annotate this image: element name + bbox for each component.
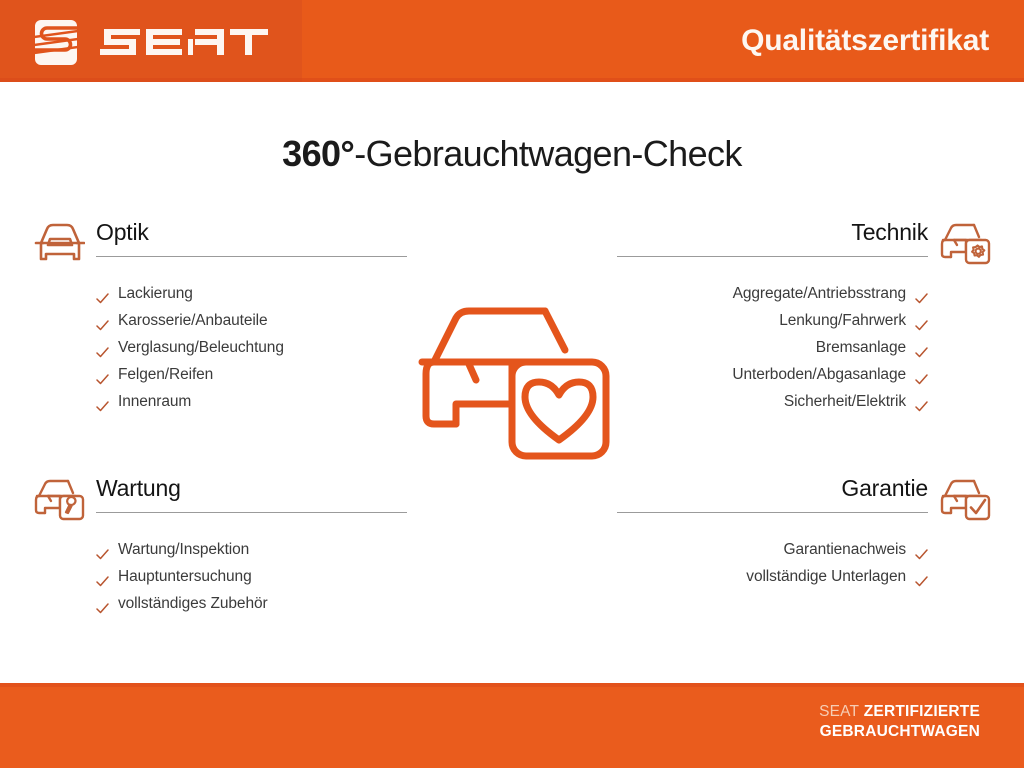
section-optik-list: Lackierung Karosserie/Anbauteile Verglas… [33,280,408,415]
section-optik-divider [96,256,407,257]
list-item-label: vollständiges Zubehör [118,590,268,617]
list-item: Lackierung [96,280,408,307]
list-item: Aggregate/Antriebsstrang [616,280,928,307]
list-item: Hauptuntersuchung [96,563,408,590]
list-item-label: vollständige Unterlagen [746,563,906,590]
section-optik-header: Optik [33,219,408,271]
check-icon [96,341,109,354]
car-with-gear-badge-icon [939,221,991,267]
list-item-label: Innenraum [118,388,191,415]
check-icon [915,341,928,354]
check-icon [915,368,928,381]
check-icon [96,395,109,408]
list-item-label: Aggregate/Antriebsstrang [733,280,906,307]
footer-top-edge [0,683,1024,687]
list-item-label: Karosserie/Anbauteile [118,307,268,334]
car-with-wrench-badge-icon [33,477,85,523]
section-garantie: Garantie Garantienachweis vollständige U… [616,475,991,590]
list-item-label: Lenkung/Fahrwerk [779,307,906,334]
check-icon [96,287,109,300]
page-title-degrees: 360° [282,133,354,174]
list-item: Garantienachweis [616,536,928,563]
header-bottom-edge [0,78,1024,82]
section-wartung-title: Wartung [96,475,181,502]
seat-wordmark [100,25,268,59]
section-garantie-title: Garantie [841,475,928,502]
car-with-heart-badge-icon [412,298,616,476]
check-icon [915,543,928,556]
section-garantie-header: Garantie [616,475,991,527]
list-item: Lenkung/Fahrwerk [616,307,928,334]
page-title: 360°-Gebrauchtwagen-Check [0,133,1024,175]
list-item: vollständige Unterlagen [616,563,928,590]
footer-brand-line2: GEBRAUCHTWAGEN [819,722,980,742]
list-item-label: Verglasung/Beleuchtung [118,334,284,361]
header-title: Qualitätszertifikat [741,0,989,82]
section-technik: Technik Aggregate/Antriebsstrang Lenkung… [616,219,991,415]
car-front-icon [33,221,85,267]
check-icon [96,543,109,556]
list-item: Karosserie/Anbauteile [96,307,408,334]
check-icon [96,570,109,583]
list-item: Unterboden/Abgasanlage [616,361,928,388]
check-icon [915,287,928,300]
check-icon [96,368,109,381]
section-wartung: Wartung Wartung/Inspektion Hauptuntersuc… [33,475,408,617]
section-wartung-list: Wartung/Inspektion Hauptuntersuchung vol… [33,536,408,617]
section-wartung-divider [96,512,407,513]
check-icon [96,314,109,327]
list-item-label: Garantienachweis [784,536,906,563]
footer-brand-line1: SEAT ZERTIFIZIERTE [819,702,980,722]
list-item-label: Bremsanlage [816,334,906,361]
list-item-label: Unterboden/Abgasanlage [732,361,906,388]
section-technik-list: Aggregate/Antriebsstrang Lenkung/Fahrwer… [616,280,991,415]
section-wartung-header: Wartung [33,475,408,527]
section-technik-divider [617,256,928,257]
quality-certificate-page: Qualitätszertifikat 360°-Gebrauchtwagen-… [0,0,1024,768]
check-icon [915,395,928,408]
footer-brand-seat: SEAT [819,703,859,720]
check-icon [915,314,928,327]
section-optik: Optik Lackierung Karosserie/Anbauteile [33,219,408,415]
page-title-rest: -Gebrauchtwagen-Check [354,133,742,174]
page-footer: SEAT ZERTIFIZIERTE GEBRAUCHTWAGEN [0,683,1024,768]
check-icon [96,597,109,610]
section-garantie-divider [617,512,928,513]
list-item: Felgen/Reifen [96,361,408,388]
car-with-check-badge-icon [939,477,991,523]
list-item: Bremsanlage [616,334,928,361]
footer-brand-zertifizierte: ZERTIFIZIERTE [864,703,980,720]
section-technik-header: Technik [616,219,991,271]
seat-brand-logo [33,17,268,67]
seat-s-logo-icon [33,18,79,67]
section-garantie-list: Garantienachweis vollständige Unterlagen [616,536,991,590]
check-icon [915,570,928,583]
list-item-label: Hauptuntersuchung [118,563,252,590]
list-item: Verglasung/Beleuchtung [96,334,408,361]
page-header: Qualitätszertifikat [0,0,1024,82]
list-item-label: Wartung/Inspektion [118,536,249,563]
footer-brand-lockup: SEAT ZERTIFIZIERTE GEBRAUCHTWAGEN [819,702,980,742]
list-item: Sicherheit/Elektrik [616,388,928,415]
list-item-label: Sicherheit/Elektrik [784,388,906,415]
list-item: Innenraum [96,388,408,415]
list-item: Wartung/Inspektion [96,536,408,563]
list-item: vollständiges Zubehör [96,590,408,617]
section-optik-title: Optik [96,219,149,246]
section-technik-title: Technik [851,219,928,246]
list-item-label: Felgen/Reifen [118,361,213,388]
list-item-label: Lackierung [118,280,193,307]
